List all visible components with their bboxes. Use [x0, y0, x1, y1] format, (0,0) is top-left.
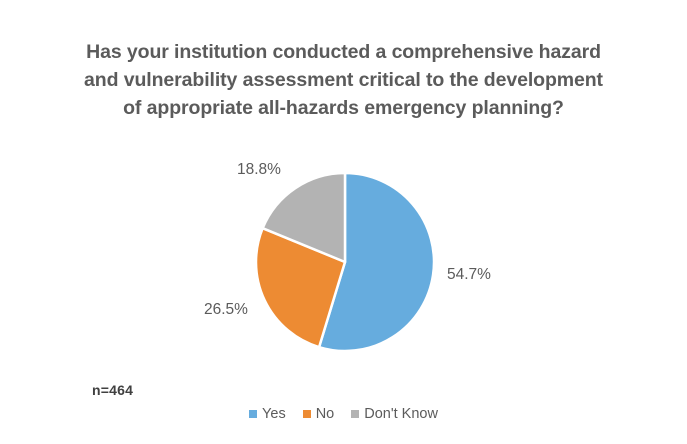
- pie-slice-group: [256, 173, 434, 351]
- sample-size-annotation: n=464: [92, 382, 133, 398]
- legend-swatch-dont-know-icon: [351, 410, 359, 418]
- slice-label-no: 26.5%: [204, 301, 248, 319]
- slice-label-dont-know: 18.8%: [237, 161, 281, 179]
- legend-label-no: No: [316, 407, 335, 422]
- legend-item-yes: Yes: [249, 407, 286, 422]
- legend-swatch-no-icon: [303, 410, 311, 418]
- legend-label-dont-know: Don't Know: [364, 407, 438, 422]
- slice-label-yes: 54.7%: [447, 266, 491, 284]
- legend-item-no: No: [303, 407, 335, 422]
- chart-legend: Yes No Don't Know: [0, 407, 687, 422]
- legend-label-yes: Yes: [262, 407, 286, 422]
- chart-title-line-3: of appropriate all-hazards emergency pla…: [40, 94, 647, 122]
- chart-title: Has your institution conducted a compreh…: [40, 38, 647, 122]
- chart-title-line-2: and vulnerability assessment critical to…: [40, 66, 647, 94]
- legend-swatch-yes-icon: [249, 410, 257, 418]
- pie-chart-figure: Has your institution conducted a compreh…: [0, 0, 687, 444]
- chart-title-line-1: Has your institution conducted a compreh…: [40, 38, 647, 66]
- plot-area: [0, 140, 687, 380]
- legend-item-dont-know: Don't Know: [351, 407, 438, 422]
- pie-svg: [0, 140, 687, 380]
